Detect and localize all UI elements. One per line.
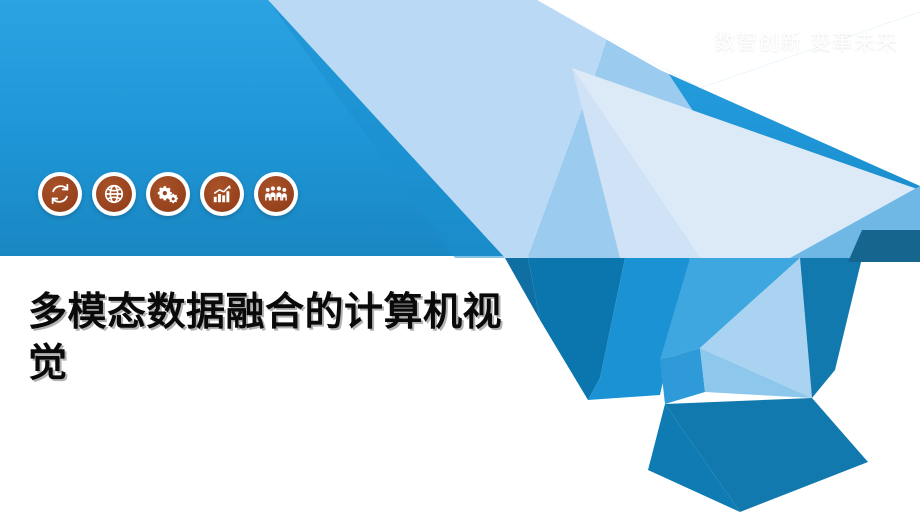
refresh-cycle-icon — [42, 176, 78, 212]
icon-badge-people-group[interactable] — [254, 172, 298, 216]
icon-badge-refresh-cycle[interactable] — [38, 172, 82, 216]
slide-tagline: 数智创新 变革未来 — [714, 26, 898, 56]
presentation-slide: 数智创新 变革未来 — [0, 0, 920, 518]
icon-badge-gears[interactable] — [146, 172, 190, 216]
people-group-icon — [258, 176, 294, 212]
gears-icon — [150, 176, 186, 212]
icon-badge-globe[interactable] — [92, 172, 136, 216]
low-poly-geometric-artwork — [0, 0, 920, 518]
icon-badge-bar-chart-growth[interactable] — [200, 172, 244, 216]
globe-icon — [96, 176, 132, 212]
slide-title: 多模态数据融合的计算机视觉 — [28, 288, 508, 389]
feature-icon-row — [38, 172, 298, 216]
bar-chart-growth-icon — [204, 176, 240, 212]
